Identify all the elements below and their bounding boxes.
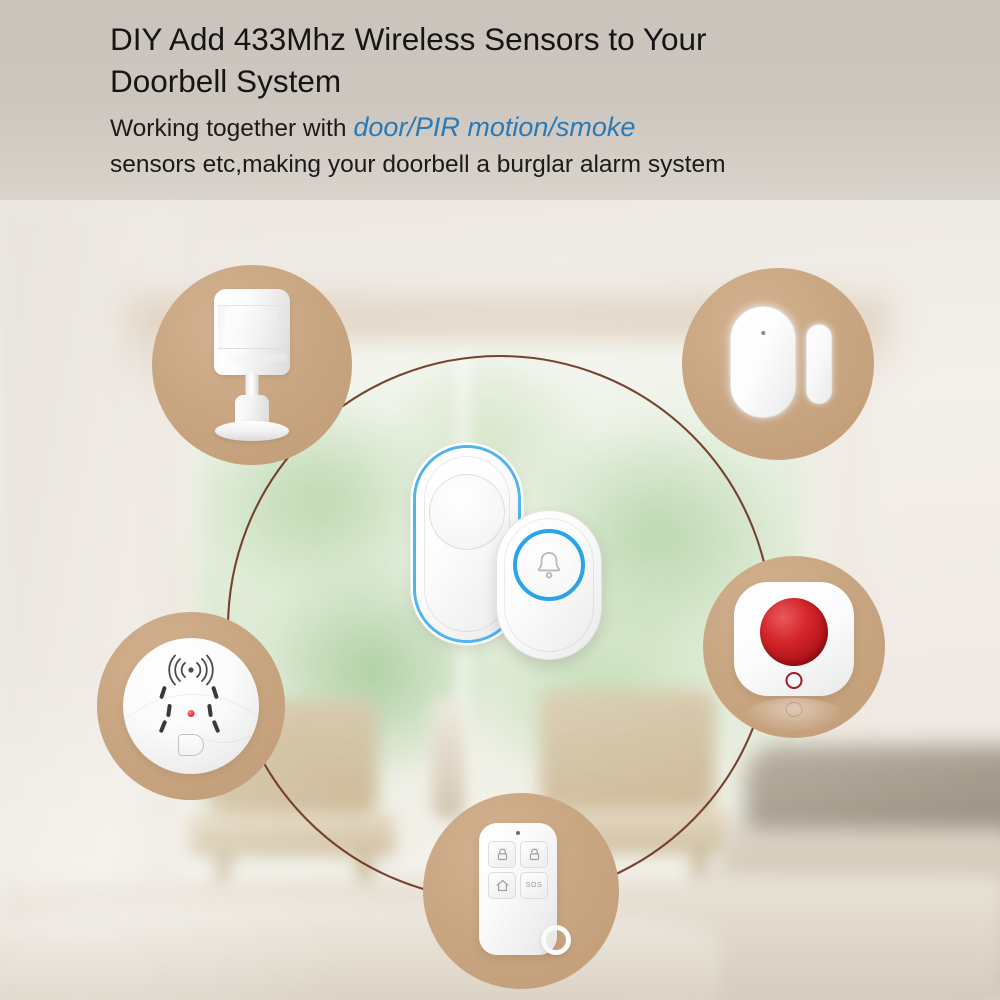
subheadline: Working together with door/PIR motion/sm… (110, 109, 950, 183)
lock-closed-icon (495, 847, 510, 862)
bell-icon (534, 549, 564, 581)
remote-home-arm-button[interactable] (488, 872, 516, 899)
pir-lens (218, 305, 286, 349)
sound-wave-icon (165, 654, 217, 686)
title-line-2: Doorbell System (110, 63, 341, 99)
lock-open-icon (527, 847, 542, 862)
wireless-doorbell-kit[interactable] (408, 448, 608, 678)
remote-key-fob-icon: SOS (423, 793, 619, 989)
smoke-detector-icon (97, 612, 285, 800)
siren-body (734, 582, 854, 696)
product-poster: DIY Add 433Mhz Wireless Sensors to Your … (0, 0, 1000, 1000)
chair-backrest (540, 690, 715, 808)
smoke-detector-body (123, 638, 259, 774)
subheadline-tail: sensors etc,making your doorbell a burgl… (110, 151, 725, 178)
push-button-led-ring (513, 529, 585, 601)
home-icon (495, 878, 510, 893)
siren-reflection (745, 698, 843, 732)
badge-smoke-detector[interactable] (97, 612, 285, 800)
door-sensor-main-unit (730, 306, 796, 418)
pir-head (214, 289, 290, 375)
chime-speaker-grille (429, 474, 505, 550)
remote-keyring-loop (541, 925, 571, 955)
smoke-test-button[interactable] (178, 734, 204, 756)
subheadline-accent: door/PIR motion/smoke (353, 112, 635, 142)
subheadline-lead: Working together with (110, 115, 353, 142)
pir-band (218, 354, 286, 362)
siren-alarm-icon (703, 556, 885, 738)
doorbell-push-button[interactable] (496, 510, 602, 660)
door-sensor-magnet (806, 324, 832, 404)
badge-remote-key-fob[interactable]: SOS (423, 793, 619, 989)
page-title: DIY Add 433Mhz Wireless Sensors to Your … (110, 18, 950, 102)
remote-led-dot (516, 831, 520, 835)
pir-base-plate (215, 421, 289, 441)
pir-motion-sensor-icon (152, 265, 352, 465)
siren-red-dome (760, 598, 828, 666)
title-line-1: DIY Add 433Mhz Wireless Sensors to Your (110, 21, 707, 57)
door-contact-sensor-icon (682, 268, 874, 460)
remote-disarm-button[interactable] (520, 841, 548, 868)
sos-label: SOS (526, 882, 543, 889)
siren-indicator-led (786, 672, 803, 689)
badge-siren-alarm[interactable] (703, 556, 885, 738)
smoke-indicator-led (188, 710, 195, 717)
badge-door-contact-sensor[interactable] (682, 268, 874, 460)
remote-button-pad: SOS (488, 841, 548, 899)
remote-sos-button[interactable]: SOS (520, 872, 548, 899)
badge-pir-motion-sensor[interactable] (152, 265, 352, 465)
remote-arm-button[interactable] (488, 841, 516, 868)
headline-block: DIY Add 433Mhz Wireless Sensors to Your … (110, 18, 950, 183)
